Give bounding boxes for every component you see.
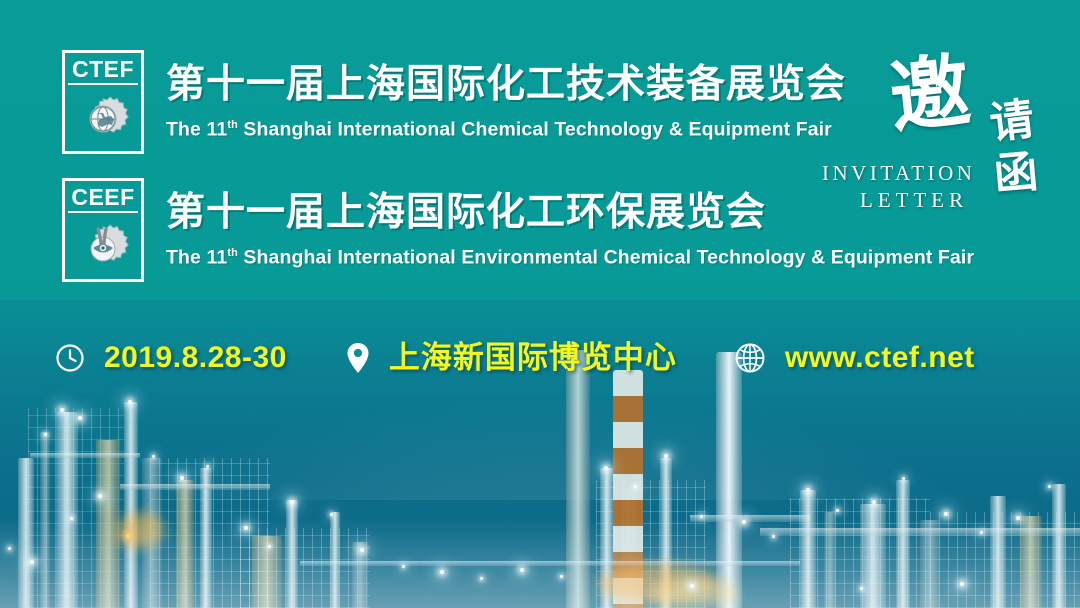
event-block-ctef: CTEF 第十一届上海国际化工技术装备展览会 T — [62, 50, 846, 154]
calligraphy-yao: 邀 — [886, 50, 974, 138]
gear-leaf-icon — [68, 213, 138, 276]
ceef-title-en-sup: th — [227, 247, 238, 259]
event-date-item: 2019.8.28-30 — [54, 341, 287, 375]
invitation-letter-block: 邀 请 函 INVITATION LETTER — [822, 48, 1052, 228]
event-website-item[interactable]: www.ctef.net — [733, 341, 975, 375]
event-venue-text: 上海新国际博览中心 — [389, 341, 677, 375]
exhibition-invitation-poster: CTEF 第十一届上海国际化工技术装备展览会 T — [0, 0, 1080, 608]
ctef-title-en-sup: th — [227, 119, 238, 131]
ceef-logo-badge: CEEF — [62, 178, 144, 282]
invitation-english: INVITATION LETTER — [822, 160, 992, 214]
event-date-text: 2019.8.28-30 — [104, 341, 287, 375]
ceef-title-en: The 11th Shanghai International Environm… — [166, 240, 974, 271]
calligraphy-qing: 请 — [987, 97, 1036, 146]
event-website-text[interactable]: www.ctef.net — [785, 341, 975, 375]
invitation-line-2: LETTER — [822, 187, 992, 214]
ctef-title-cn: 第十一届上海国际化工技术装备展览会 — [166, 62, 846, 108]
clock-icon — [54, 342, 86, 374]
ground-light-haze — [0, 518, 1080, 608]
ctef-logo-text: CTEF — [68, 56, 138, 85]
ctef-title-en: The 11th Shanghai International Chemical… — [166, 112, 846, 143]
event-info-bar: 2019.8.28-30 上海新国际博览中心 — [0, 330, 1080, 386]
ctef-logo-badge: CTEF — [62, 50, 144, 154]
gear-globe-icon — [68, 85, 138, 148]
ctef-title-en-prefix: The 11 — [166, 118, 227, 140]
globe-icon — [733, 341, 767, 375]
ceef-title-en-prefix: The 11 — [166, 246, 227, 268]
ceef-title-en-rest: Shanghai International Environmental Che… — [238, 246, 974, 268]
calligraphy-han: 函 — [992, 150, 1040, 198]
ctef-titles: 第十一届上海国际化工技术装备展览会 The 11th Shanghai Inte… — [166, 62, 846, 143]
ceef-logo-text: CEEF — [68, 184, 138, 213]
poster-header: CTEF 第十一届上海国际化工技术装备展览会 T — [0, 0, 1080, 300]
ctef-title-en-rest: Shanghai International Chemical Technolo… — [238, 118, 832, 140]
event-venue-item: 上海新国际博览中心 — [343, 341, 677, 375]
map-pin-icon — [343, 341, 373, 375]
invitation-line-1: INVITATION — [822, 160, 992, 187]
